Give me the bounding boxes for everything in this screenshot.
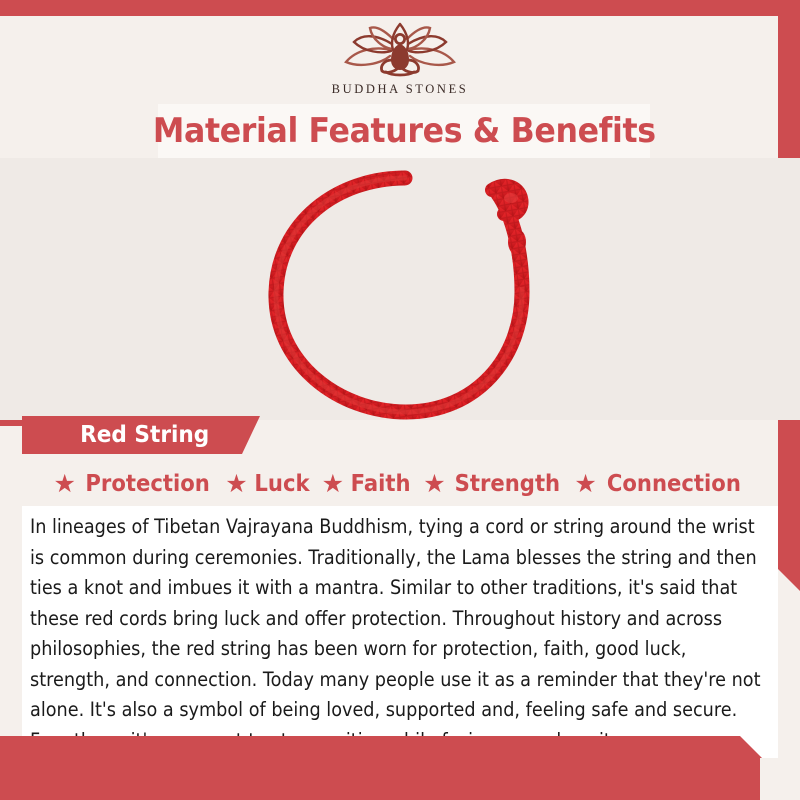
brand-logo: BUDDHA STONES bbox=[0, 16, 800, 102]
feature-item-faith: ★ Faith bbox=[322, 471, 414, 497]
star-icon: ★ bbox=[423, 472, 445, 497]
feature-label: Connection bbox=[607, 471, 741, 497]
bottom-accent-wedge bbox=[0, 736, 800, 758]
feature-label: Protection bbox=[85, 471, 209, 497]
red-string-bracelet-image bbox=[230, 158, 570, 420]
brand-name: BUDDHA STONES bbox=[332, 82, 469, 97]
feature-item-strength: ★ Strength bbox=[423, 471, 564, 497]
feature-item-connection: ★ Connection bbox=[574, 471, 746, 497]
product-name: Red String bbox=[80, 422, 209, 448]
infographic-poster: BUDDHA STONES Material Features & Benefi… bbox=[0, 0, 800, 800]
feature-item-luck: ★ Luck bbox=[225, 471, 311, 497]
lotus-meditation-icon bbox=[330, 20, 470, 80]
star-icon: ★ bbox=[54, 472, 76, 497]
product-name-banner: Red String bbox=[22, 416, 260, 454]
feature-label: Faith bbox=[351, 471, 411, 497]
star-icon: ★ bbox=[225, 472, 247, 497]
star-icon: ★ bbox=[322, 472, 344, 497]
feature-label: Luck bbox=[254, 471, 309, 497]
bottom-accent-bar bbox=[0, 758, 800, 800]
feature-label: Strength bbox=[454, 471, 560, 497]
top-accent-bar bbox=[0, 0, 800, 16]
feature-item-protection: ★ Protection bbox=[54, 471, 216, 497]
page-title: Material Features & Benefits bbox=[153, 111, 656, 151]
feature-list: ★ Protection ★ Luck ★ Faith ★ Strength ★… bbox=[0, 462, 800, 506]
product-image-area bbox=[0, 158, 800, 420]
description-text: In lineages of Tibetan Vajrayana Buddhis… bbox=[30, 512, 764, 756]
page-title-banner: Material Features & Benefits bbox=[158, 104, 650, 158]
star-icon: ★ bbox=[574, 472, 596, 497]
